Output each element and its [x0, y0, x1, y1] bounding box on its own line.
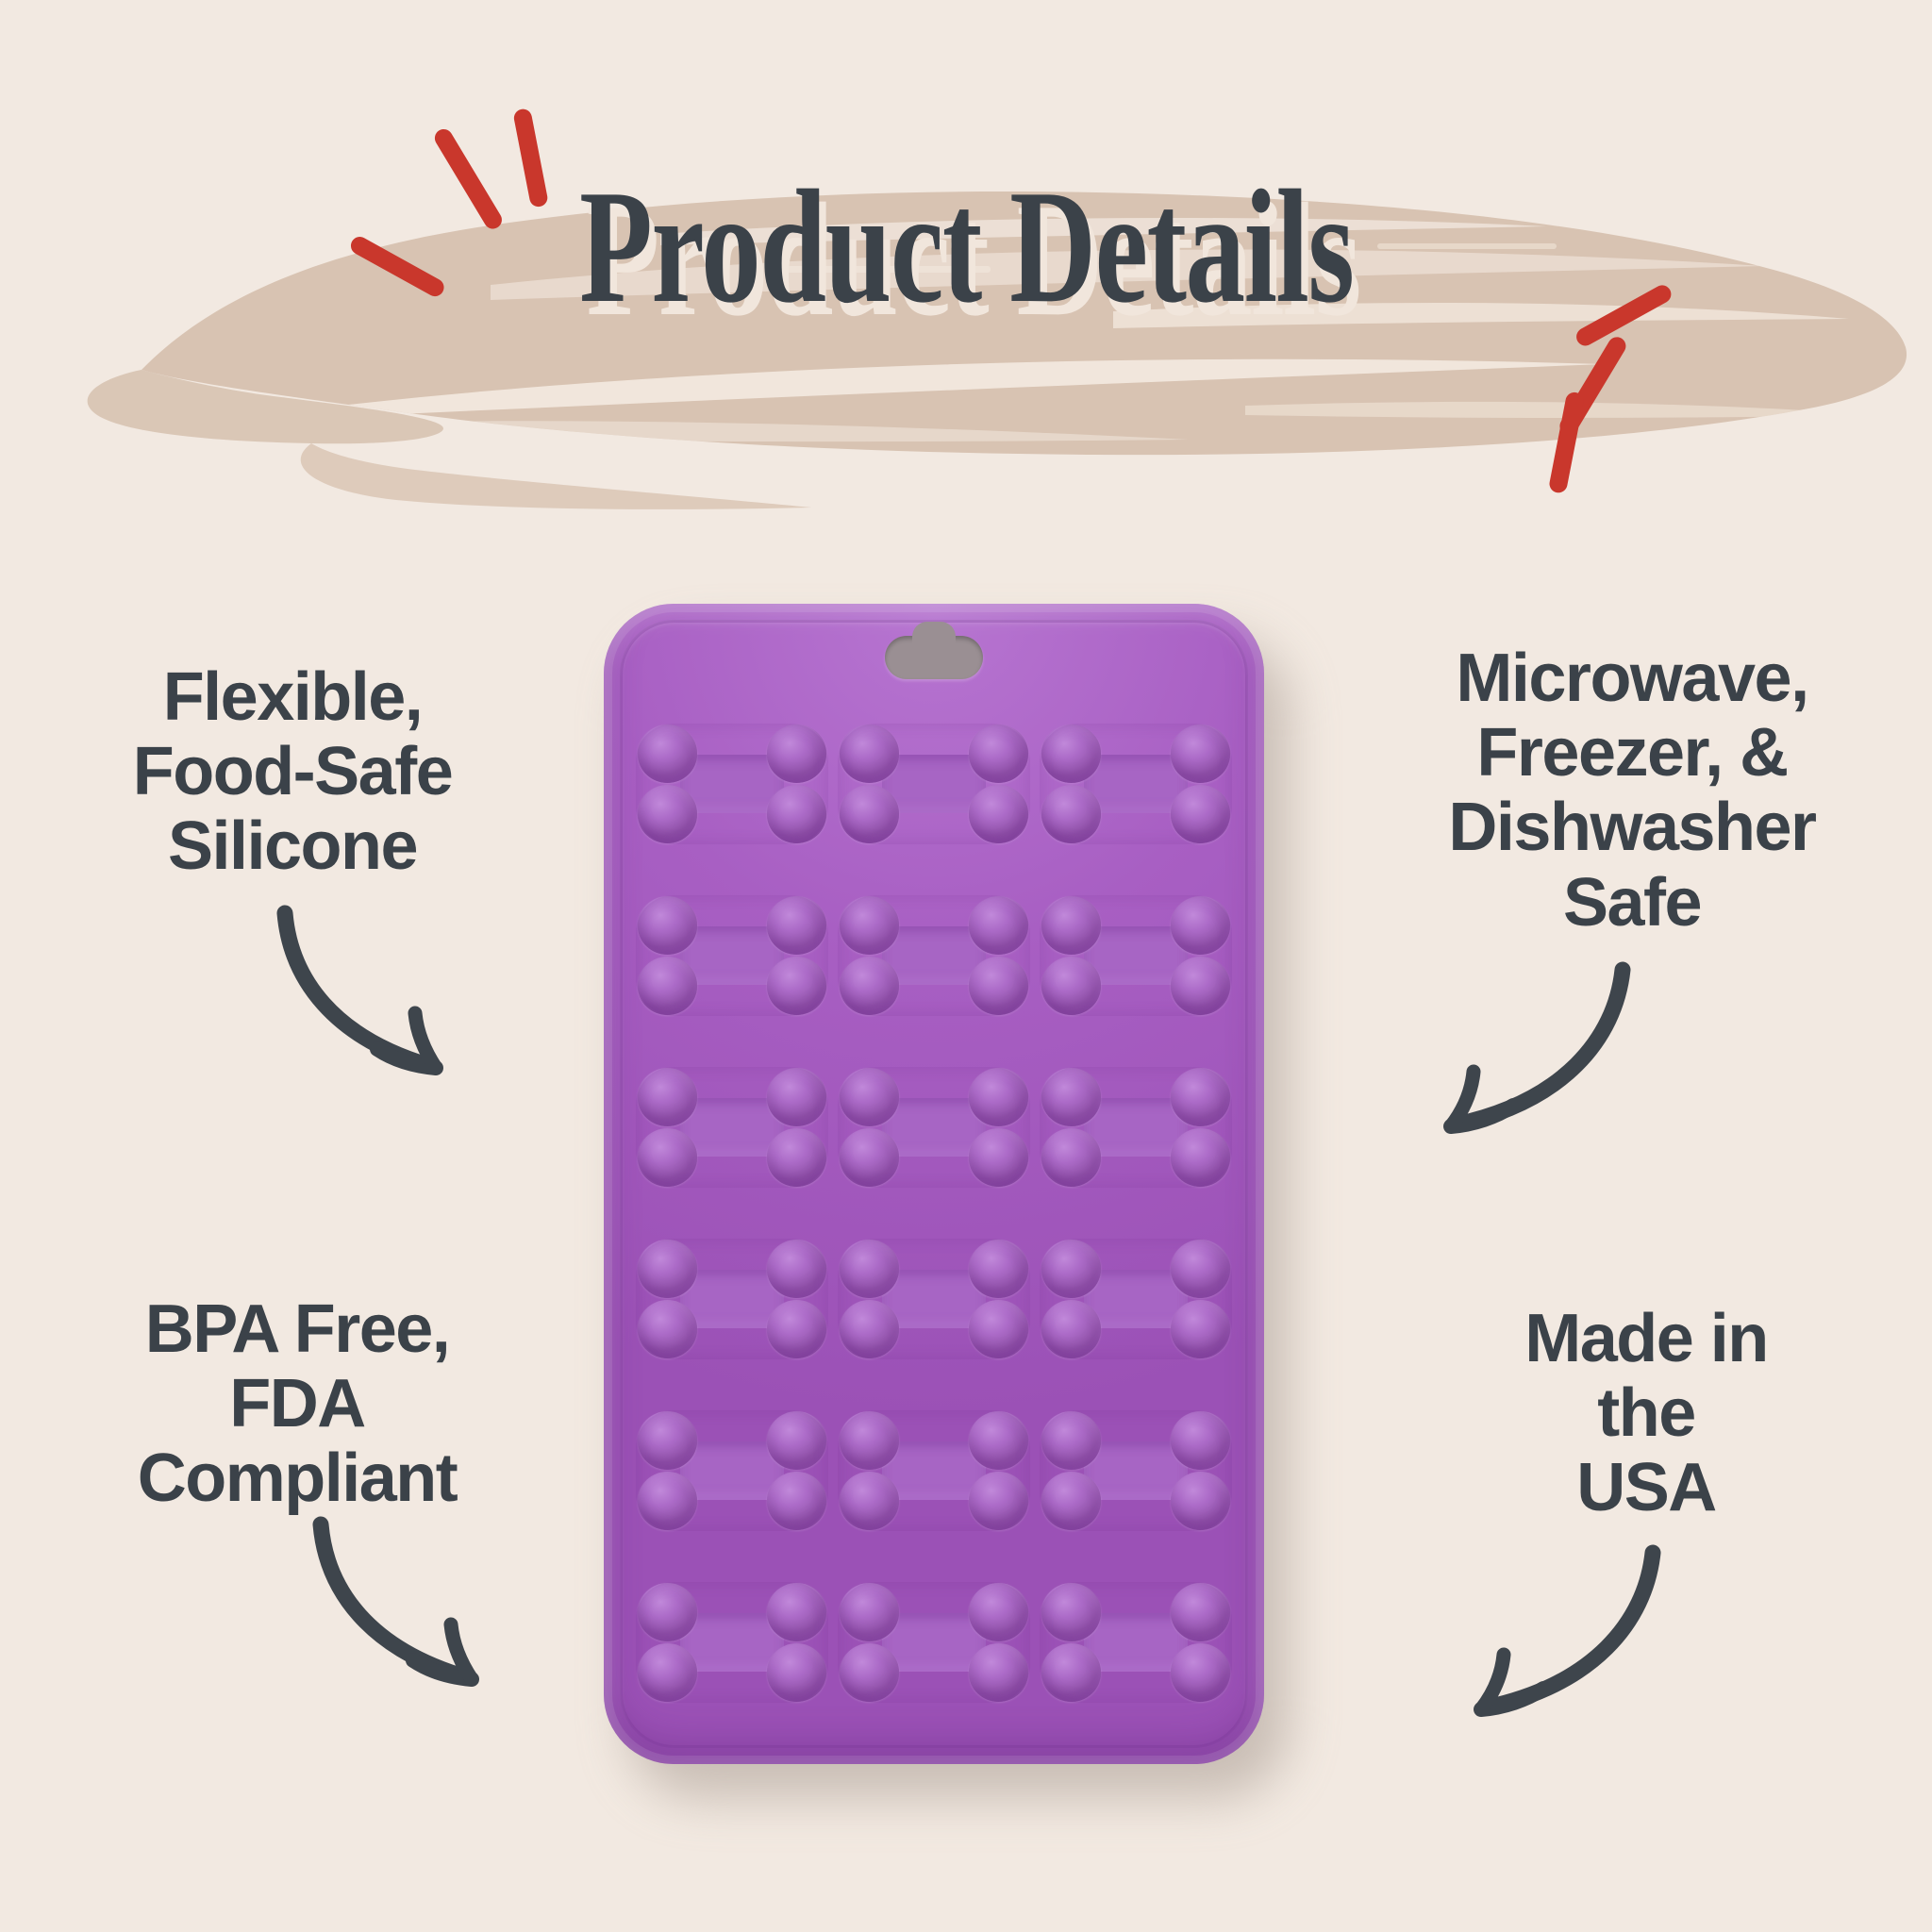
- bone-lobe: [840, 1583, 899, 1641]
- feature-label-bpa-free-fda-compliant: BPA Free, FDA Compliant: [75, 1292, 519, 1517]
- arrow-to-product-top-left: [274, 906, 538, 1094]
- cavity-row: [636, 1219, 1232, 1379]
- bone-lobe: [1171, 1128, 1230, 1186]
- feature-label-microwave-freezer-dishwasher-safe: Microwave, Freezer, & Dishwasher Safe: [1377, 641, 1887, 941]
- bone-lobe: [840, 1128, 899, 1186]
- bone-lobe: [840, 957, 899, 1014]
- bone-lobe: [840, 724, 899, 782]
- product-image: [604, 604, 1302, 1811]
- bone-lobe: [969, 1583, 1028, 1641]
- infographic-canvas: Product Details Flexible, Food-Safe Sili…: [0, 0, 1932, 1932]
- feature-label-made-in-the-usa: Made in the USA: [1443, 1302, 1849, 1526]
- bone-cavity: [1040, 895, 1232, 1016]
- bone-lobe: [638, 1128, 697, 1186]
- bone-lobe: [1171, 1068, 1230, 1125]
- bone-lobe: [638, 1583, 697, 1641]
- bone-lobe: [969, 724, 1028, 782]
- bone-lobe: [767, 896, 826, 954]
- bone-lobe: [969, 1643, 1028, 1701]
- bone-cavity: [636, 895, 828, 1016]
- bone-lobe: [1171, 785, 1230, 842]
- bone-lobe: [840, 1411, 899, 1469]
- bone-lobe: [1171, 1411, 1230, 1469]
- bone-lobe: [1171, 724, 1230, 782]
- bone-lobe: [1041, 957, 1101, 1014]
- bone-lobe: [1041, 1411, 1101, 1469]
- bone-lobe: [969, 1411, 1028, 1469]
- bone-lobe: [1041, 1643, 1101, 1701]
- bone-lobe: [1171, 1240, 1230, 1297]
- bone-lobe: [767, 1240, 826, 1297]
- bone-lobe: [969, 957, 1028, 1014]
- arrow-to-product-top-right: [1358, 962, 1641, 1151]
- cavity-row: [636, 1391, 1232, 1551]
- bone-lobe: [638, 1240, 697, 1297]
- bone-lobe: [1041, 1300, 1101, 1357]
- bone-lobe: [969, 1240, 1028, 1297]
- bone-lobe: [767, 724, 826, 782]
- feature-label-flexible-food-safe-silicone: Flexible, Food-Safe Silicone: [66, 660, 519, 885]
- bone-lobe: [1041, 1583, 1101, 1641]
- bone-cavity: [636, 1410, 828, 1531]
- bone-lobe: [1171, 896, 1230, 954]
- bone-cavity: [838, 1239, 1030, 1359]
- bone-lobe: [840, 1472, 899, 1529]
- hang-hole: [885, 636, 983, 679]
- bone-lobe: [767, 1583, 826, 1641]
- bone-lobe: [1041, 1472, 1101, 1529]
- bone-lobe: [1041, 1068, 1101, 1125]
- bone-lobe: [638, 1411, 697, 1469]
- sparkle-dash-left-2: [431, 125, 505, 232]
- bone-cavity: [838, 895, 1030, 1016]
- cavity-row: [636, 1562, 1232, 1723]
- bone-cavity: [636, 1582, 828, 1703]
- cavity-row: [636, 704, 1232, 864]
- bone-cavity: [1040, 724, 1232, 844]
- bone-lobe: [840, 785, 899, 842]
- bone-lobe: [638, 785, 697, 842]
- bone-lobe: [969, 1300, 1028, 1357]
- bone-cavity: [636, 724, 828, 844]
- bone-lobe: [767, 1643, 826, 1701]
- bone-lobe: [638, 1643, 697, 1701]
- bone-lobe: [1171, 1472, 1230, 1529]
- bone-lobe: [767, 957, 826, 1014]
- bone-cavity: [1040, 1067, 1232, 1188]
- bone-lobe: [767, 1068, 826, 1125]
- bone-lobe: [767, 1472, 826, 1529]
- bone-lobe: [638, 724, 697, 782]
- bone-lobe: [1171, 1300, 1230, 1357]
- bone-lobe: [1041, 896, 1101, 954]
- bone-lobe: [840, 1643, 899, 1701]
- bone-lobe: [638, 896, 697, 954]
- bone-lobe: [969, 1128, 1028, 1186]
- bone-lobe: [1171, 1583, 1230, 1641]
- header-banner: [0, 0, 1932, 528]
- bone-cavity: [838, 1410, 1030, 1531]
- arrow-to-product-bottom-right: [1387, 1547, 1670, 1736]
- bone-cavity: [838, 1582, 1030, 1703]
- bone-cavity: [838, 1067, 1030, 1188]
- bone-cavity: [1040, 1410, 1232, 1531]
- cavity-grid: [636, 704, 1232, 1723]
- bone-lobe: [1041, 1240, 1101, 1297]
- bone-lobe: [840, 1068, 899, 1125]
- bone-lobe: [638, 1068, 697, 1125]
- bone-cavity: [636, 1239, 828, 1359]
- bone-lobe: [969, 785, 1028, 842]
- cavity-row: [636, 1047, 1232, 1207]
- bone-lobe: [1171, 1643, 1230, 1701]
- bone-cavity: [1040, 1239, 1232, 1359]
- sparkle-dash-left-1: [512, 108, 549, 208]
- bone-lobe: [638, 957, 697, 1014]
- bone-lobe: [840, 1240, 899, 1297]
- bone-lobe: [767, 785, 826, 842]
- bone-lobe: [767, 1128, 826, 1186]
- bone-lobe: [969, 896, 1028, 954]
- bone-lobe: [767, 1411, 826, 1469]
- bone-lobe: [1041, 1128, 1101, 1186]
- cavity-row: [636, 875, 1232, 1036]
- bone-lobe: [969, 1472, 1028, 1529]
- bone-lobe: [1041, 724, 1101, 782]
- bone-lobe: [840, 896, 899, 954]
- bone-lobe: [638, 1300, 697, 1357]
- bone-cavity: [1040, 1582, 1232, 1703]
- bone-lobe: [840, 1300, 899, 1357]
- silicone-mold-tray: [604, 604, 1264, 1764]
- bone-lobe: [1171, 957, 1230, 1014]
- bone-lobe: [638, 1472, 697, 1529]
- bone-cavity: [838, 724, 1030, 844]
- arrow-to-product-bottom-left: [311, 1519, 575, 1707]
- bone-lobe: [767, 1300, 826, 1357]
- bone-lobe: [1041, 785, 1101, 842]
- bone-cavity: [636, 1067, 828, 1188]
- bone-lobe: [969, 1068, 1028, 1125]
